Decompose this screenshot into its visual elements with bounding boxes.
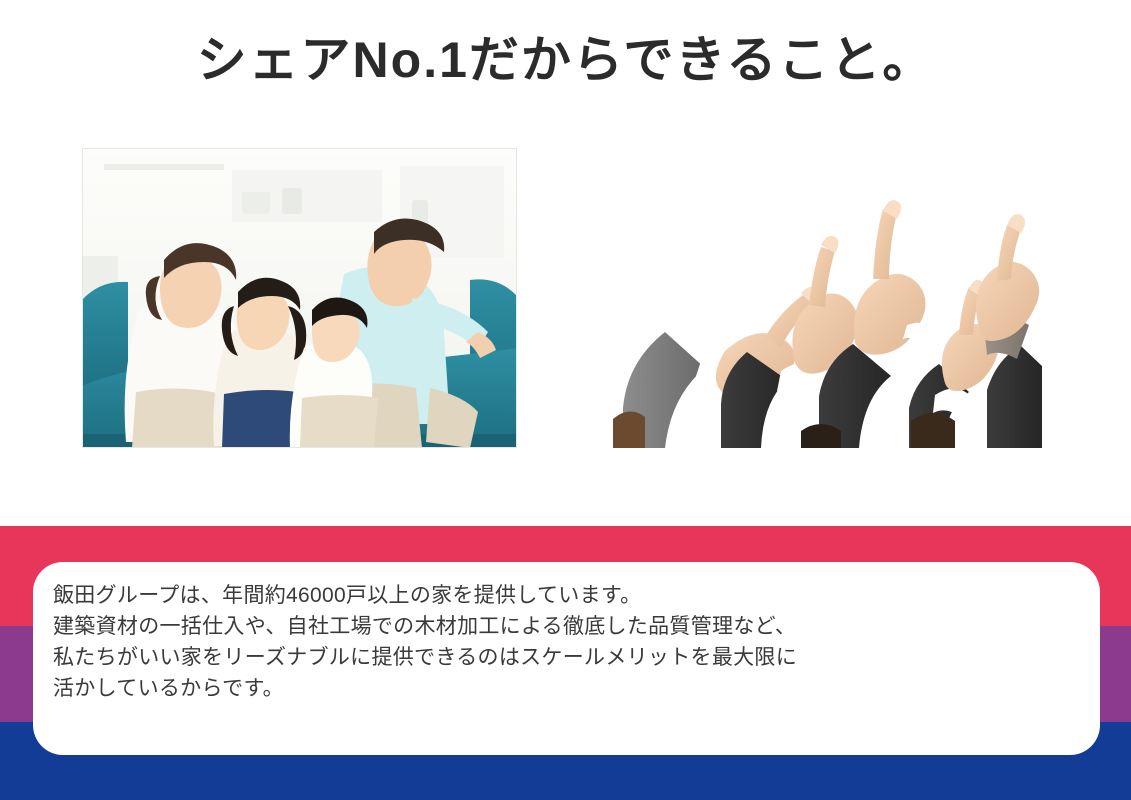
slide-root: シェアNo.1だからできること。 bbox=[0, 0, 1131, 800]
raised-hands-illustration bbox=[605, 183, 1042, 448]
description-card: 飯田グループは、年間約46000戸以上の家を提供しています。 建築資材の一括仕入… bbox=[33, 562, 1100, 755]
page-title: シェアNo.1だからできること。 bbox=[0, 30, 1131, 90]
raised-hands-number-one-photo bbox=[605, 183, 1042, 448]
family-on-sofa-photo bbox=[82, 148, 517, 448]
family-on-sofa-illustration bbox=[82, 148, 517, 448]
description-text: 飯田グループは、年間約46000戸以上の家を提供しています。 建築資材の一括仕入… bbox=[53, 580, 1080, 704]
